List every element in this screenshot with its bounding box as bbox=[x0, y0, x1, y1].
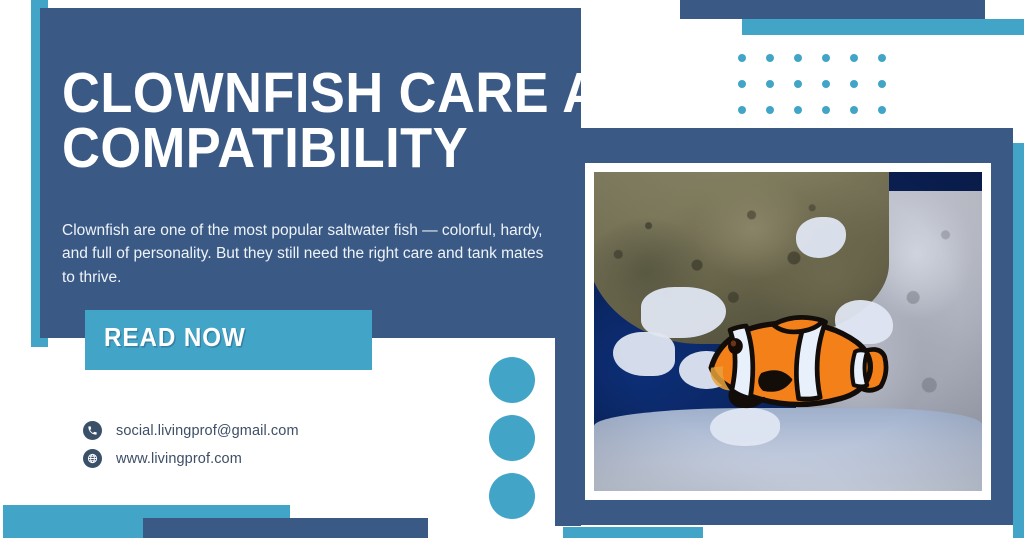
grid-dot bbox=[878, 80, 886, 88]
grid-dot bbox=[794, 106, 802, 114]
title-line-1: CLOWNFISH CARE AND bbox=[62, 66, 540, 121]
bottom-navy-bar bbox=[143, 518, 428, 538]
grid-dot bbox=[822, 80, 830, 88]
decor-circle bbox=[489, 357, 535, 403]
grid-dot bbox=[850, 106, 858, 114]
coral-cluster bbox=[613, 332, 675, 377]
grid-dot bbox=[766, 80, 774, 88]
bottom-right-blue-bar bbox=[563, 527, 703, 538]
grid-dot bbox=[738, 106, 746, 114]
grid-dot bbox=[766, 106, 774, 114]
grid-dot bbox=[822, 106, 830, 114]
top-navy-bar bbox=[680, 0, 985, 19]
photo-frame bbox=[585, 163, 991, 500]
clownfish-photo bbox=[594, 172, 982, 491]
contact-block: social.livingprof@gmail.com www.livingpr… bbox=[83, 421, 299, 468]
grid-dot bbox=[738, 80, 746, 88]
grid-dot bbox=[850, 54, 858, 62]
grid-dot bbox=[878, 54, 886, 62]
grid-dot bbox=[878, 106, 886, 114]
circle-decoration-group bbox=[489, 357, 535, 519]
decor-circle bbox=[489, 415, 535, 461]
hero-description: Clownfish are one of the most popular sa… bbox=[62, 219, 552, 290]
page-title: CLOWNFISH CARE AND COMPATIBILITY bbox=[62, 66, 540, 177]
contact-row-email[interactable]: social.livingprof@gmail.com bbox=[83, 421, 299, 440]
grid-dot bbox=[738, 54, 746, 62]
grid-dot bbox=[794, 54, 802, 62]
right-accent-strip bbox=[1013, 143, 1024, 538]
poster-canvas: CLOWNFISH CARE AND COMPATIBILITY Clownfi… bbox=[0, 0, 1024, 538]
phone-icon bbox=[83, 421, 102, 440]
grid-dot bbox=[822, 54, 830, 62]
grid-dot bbox=[850, 80, 858, 88]
globe-icon bbox=[83, 449, 102, 468]
title-line-2: COMPATIBILITY bbox=[62, 121, 540, 176]
decor-circle bbox=[489, 473, 535, 519]
read-now-button-label[interactable]: READ NOW bbox=[104, 322, 246, 353]
contact-row-website[interactable]: www.livingprof.com bbox=[83, 449, 299, 468]
grid-dot bbox=[766, 54, 774, 62]
dot-grid-decoration bbox=[738, 54, 906, 132]
clownfish-illustration bbox=[687, 300, 889, 434]
contact-email-text[interactable]: social.livingprof@gmail.com bbox=[116, 423, 299, 439]
top-blue-bar bbox=[742, 19, 1024, 35]
grid-dot bbox=[794, 80, 802, 88]
contact-website-text[interactable]: www.livingprof.com bbox=[116, 451, 242, 467]
